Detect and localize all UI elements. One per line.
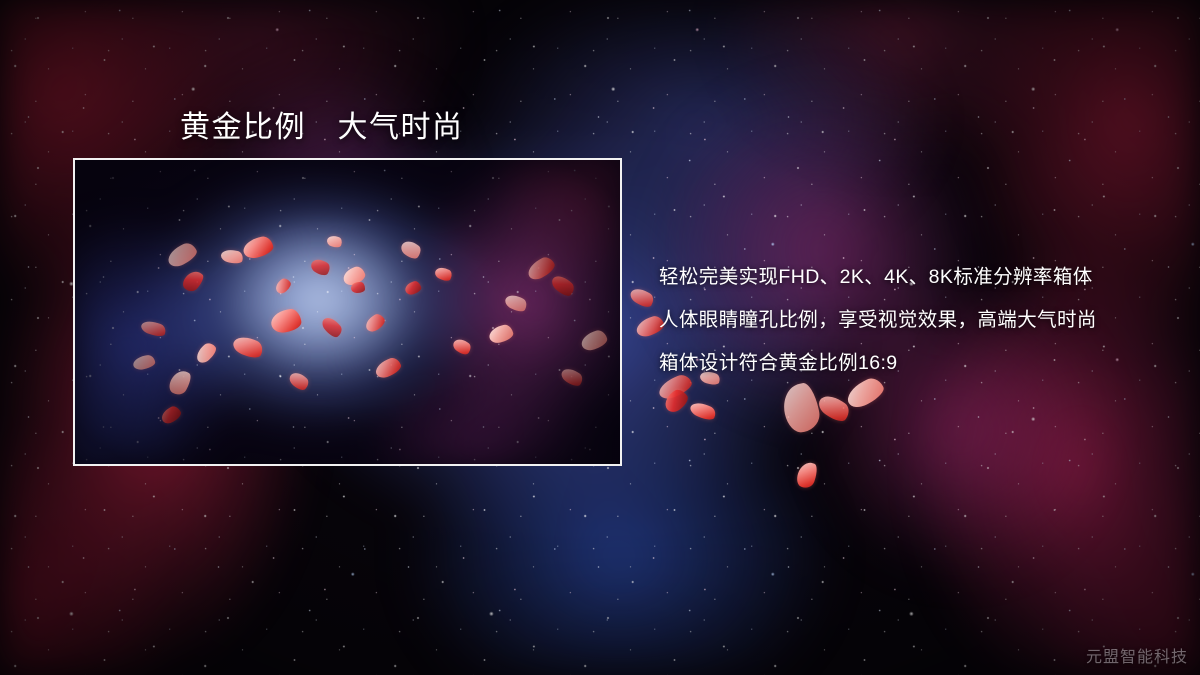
body-line-1: 轻松完美实现FHD、2K、4K、8K标准分辨率箱体 (659, 256, 1179, 299)
page-title: 黄金比例 大气时尚 (180, 102, 464, 146)
watermark: 元盟智能科技 (1086, 643, 1188, 667)
body-copy: 轻松完美实现FHD、2K、4K、8K标准分辨率箱体 人体眼睛瞳孔比例，享受视觉效… (659, 256, 1179, 385)
feature-image-vignette (75, 160, 620, 464)
feature-image (75, 160, 620, 464)
body-line-2: 人体眼睛瞳孔比例，享受视觉效果，高端大气时尚 (659, 299, 1179, 342)
presentation-slide: 黄金比例 大气时尚 轻松完美实现FHD、2K、4K、8K标准分辨率箱体 人体眼睛… (0, 0, 1200, 675)
body-line-3: 箱体设计符合黄金比例16:9 (659, 342, 1179, 385)
feature-image-frame (73, 158, 622, 466)
